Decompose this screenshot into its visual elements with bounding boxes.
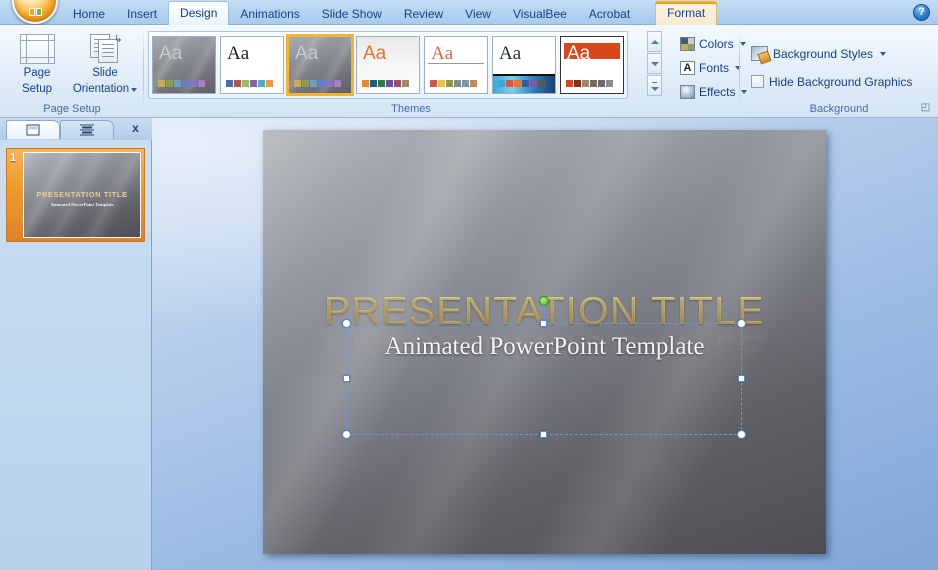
page-setup-button[interactable]: Page Setup bbox=[6, 31, 68, 96]
subtitle-placeholder-selection[interactable] bbox=[346, 323, 742, 435]
group-separator-2 bbox=[739, 29, 740, 109]
theme-thumbnail-3[interactable]: Aa bbox=[356, 36, 420, 94]
slide-orientation-label-2: Orientation bbox=[70, 83, 140, 96]
hide-background-graphics-label: Hide Background Graphics bbox=[769, 75, 912, 89]
office-button[interactable] bbox=[12, 0, 58, 24]
tab-outline[interactable] bbox=[60, 120, 114, 139]
theme-thumbnail-1[interactable]: Aa bbox=[220, 36, 284, 94]
rotate-arrow-icon: ↳ bbox=[114, 35, 122, 45]
slide-orientation-label-1: Slide bbox=[70, 67, 140, 80]
slides-icon bbox=[27, 125, 40, 136]
resize-handle-bottom-left[interactable] bbox=[342, 430, 351, 439]
theme-color-swatches bbox=[498, 80, 545, 87]
tab-animations[interactable]: Animations bbox=[229, 4, 310, 25]
checkbox-icon[interactable] bbox=[751, 75, 764, 88]
theme-effects-label: Effects bbox=[699, 85, 735, 99]
rotate-handle[interactable] bbox=[539, 296, 549, 306]
theme-sample-text: Aa bbox=[159, 43, 182, 65]
more-themes-button[interactable] bbox=[647, 75, 662, 96]
group-separator-1 bbox=[143, 29, 144, 109]
group-label-page-setup: Page Setup bbox=[2, 103, 142, 115]
slide-orientation-button[interactable]: ↳ Slide Orientation bbox=[70, 31, 140, 96]
theme-color-swatches bbox=[430, 80, 477, 87]
tab-view[interactable]: View bbox=[454, 4, 502, 25]
slide-editing-stage[interactable]: PRESENTATION TITLE PRESENTATION TITLE An… bbox=[153, 118, 938, 570]
theme-color-swatches bbox=[362, 80, 409, 87]
theme-sample-text: Aa bbox=[499, 43, 521, 65]
thumbnail-subtitle: Animated PowerPoint Template bbox=[24, 202, 140, 207]
theme-fonts-button[interactable]: A Fonts bbox=[680, 57, 741, 78]
slide-thumbnail-panel: x 1 PRESENTATION TITLE Animated PowerPoi… bbox=[0, 118, 152, 570]
ribbon-group-background: Background Styles Hide Background Graphi… bbox=[742, 27, 936, 116]
ribbon-tabs: HomeInsertDesignAnimationsSlide ShowRevi… bbox=[62, 0, 717, 25]
theme-color-swatches bbox=[294, 80, 341, 87]
theme-decoration-2 bbox=[493, 74, 555, 76]
theme-thumbnail-0[interactable]: Aa bbox=[152, 36, 216, 94]
ribbon-group-page-setup: Page Setup ↳ Slide Orientation Page Setu… bbox=[2, 27, 142, 116]
thumbnail-title: PRESENTATION TITLE bbox=[24, 190, 140, 199]
background-styles-button[interactable]: Background Styles bbox=[748, 43, 889, 64]
themes-gallery-scrollbar[interactable] bbox=[647, 31, 662, 97]
tab-slides[interactable] bbox=[6, 120, 60, 139]
slide-thumbnail-item[interactable]: 1 PRESENTATION TITLE Animated PowerPoint… bbox=[6, 148, 145, 242]
scroll-up-button[interactable] bbox=[647, 31, 662, 52]
themes-gallery[interactable]: AaAaAaAaAaAaAa bbox=[148, 31, 628, 99]
page-setup-label-1: Page bbox=[6, 67, 68, 80]
resize-handle-top-center[interactable] bbox=[540, 320, 547, 327]
resize-handle-top-left[interactable] bbox=[342, 319, 351, 328]
colors-icon bbox=[680, 37, 695, 51]
hide-background-graphics-checkbox[interactable]: Hide Background Graphics bbox=[748, 71, 915, 92]
theme-fonts-label: Fonts bbox=[699, 61, 729, 75]
theme-thumbnail-2[interactable]: Aa bbox=[288, 36, 352, 94]
background-styles-label: Background Styles bbox=[773, 47, 873, 61]
slide-orientation-icon: ↳ bbox=[88, 34, 123, 64]
page-setup-icon bbox=[20, 34, 55, 64]
theme-effects-button[interactable]: Effects bbox=[680, 81, 747, 102]
resize-handle-top-right[interactable] bbox=[737, 319, 746, 328]
slide-number: 1 bbox=[10, 152, 16, 164]
theme-sample-text: Aa bbox=[431, 43, 453, 65]
chevron-down-icon bbox=[880, 52, 886, 56]
tab-home[interactable]: Home bbox=[62, 4, 116, 25]
resize-handle-bottom-center[interactable] bbox=[540, 431, 547, 438]
tab-review[interactable]: Review bbox=[393, 4, 454, 25]
scroll-down-button[interactable] bbox=[647, 53, 662, 74]
outline-icon bbox=[80, 125, 94, 136]
close-panel-button[interactable]: x bbox=[128, 121, 143, 136]
help-icon[interactable]: ? bbox=[913, 4, 930, 21]
title-tab-bar: HomeInsertDesignAnimationsSlide ShowRevi… bbox=[0, 0, 938, 25]
tab-slide-show[interactable]: Slide Show bbox=[311, 4, 393, 25]
slide-canvas[interactable]: PRESENTATION TITLE PRESENTATION TITLE An… bbox=[263, 130, 826, 554]
theme-thumbnail-5[interactable]: Aa bbox=[492, 36, 556, 94]
tab-insert[interactable]: Insert bbox=[116, 4, 168, 25]
theme-variants-column: Colors A Fonts Effects bbox=[676, 27, 740, 116]
theme-thumbnail-4[interactable]: Aa bbox=[424, 36, 488, 94]
group-label-background: Background bbox=[742, 103, 936, 115]
tab-format[interactable]: Format bbox=[655, 1, 717, 25]
slide-panel-tabs: x bbox=[0, 118, 152, 140]
theme-color-swatches bbox=[226, 80, 273, 87]
workspace: x 1 PRESENTATION TITLE Animated PowerPoi… bbox=[0, 118, 938, 570]
theme-color-swatches bbox=[566, 80, 613, 87]
theme-colors-button[interactable]: Colors bbox=[680, 33, 746, 54]
theme-sample-text: Aa bbox=[227, 43, 249, 65]
slide-thumbnail-preview: PRESENTATION TITLE Animated PowerPoint T… bbox=[23, 152, 141, 238]
resize-handle-middle-left[interactable] bbox=[343, 375, 350, 382]
tab-design[interactable]: Design bbox=[168, 1, 229, 25]
background-styles-icon bbox=[751, 46, 768, 61]
theme-thumbnail-6[interactable]: Aa bbox=[560, 36, 624, 94]
office-logo-icon bbox=[14, 3, 56, 18]
resize-handle-bottom-right[interactable] bbox=[737, 430, 746, 439]
page-setup-label-2: Setup bbox=[6, 83, 68, 96]
fonts-icon: A bbox=[680, 61, 695, 75]
resize-handle-middle-right[interactable] bbox=[738, 375, 745, 382]
tab-visualbee[interactable]: VisualBee bbox=[502, 4, 578, 25]
chevron-down-icon bbox=[131, 88, 137, 92]
tab-acrobat[interactable]: Acrobat bbox=[578, 4, 641, 25]
theme-sample-text: Aa bbox=[567, 43, 590, 65]
background-dialog-launcher[interactable]: ◰ bbox=[919, 101, 932, 114]
slide-thumbnail-list[interactable]: 1 PRESENTATION TITLE Animated PowerPoint… bbox=[0, 140, 151, 570]
theme-color-swatches bbox=[158, 80, 205, 87]
group-label-themes: Themes bbox=[146, 103, 676, 115]
ribbon: Page Setup ↳ Slide Orientation Page Setu… bbox=[0, 25, 938, 118]
theme-sample-text: Aa bbox=[363, 43, 386, 65]
ribbon-group-themes: AaAaAaAaAaAaAa Themes bbox=[146, 27, 676, 116]
effects-icon bbox=[680, 85, 695, 99]
theme-sample-text: Aa bbox=[295, 43, 318, 65]
theme-colors-label: Colors bbox=[699, 37, 734, 51]
